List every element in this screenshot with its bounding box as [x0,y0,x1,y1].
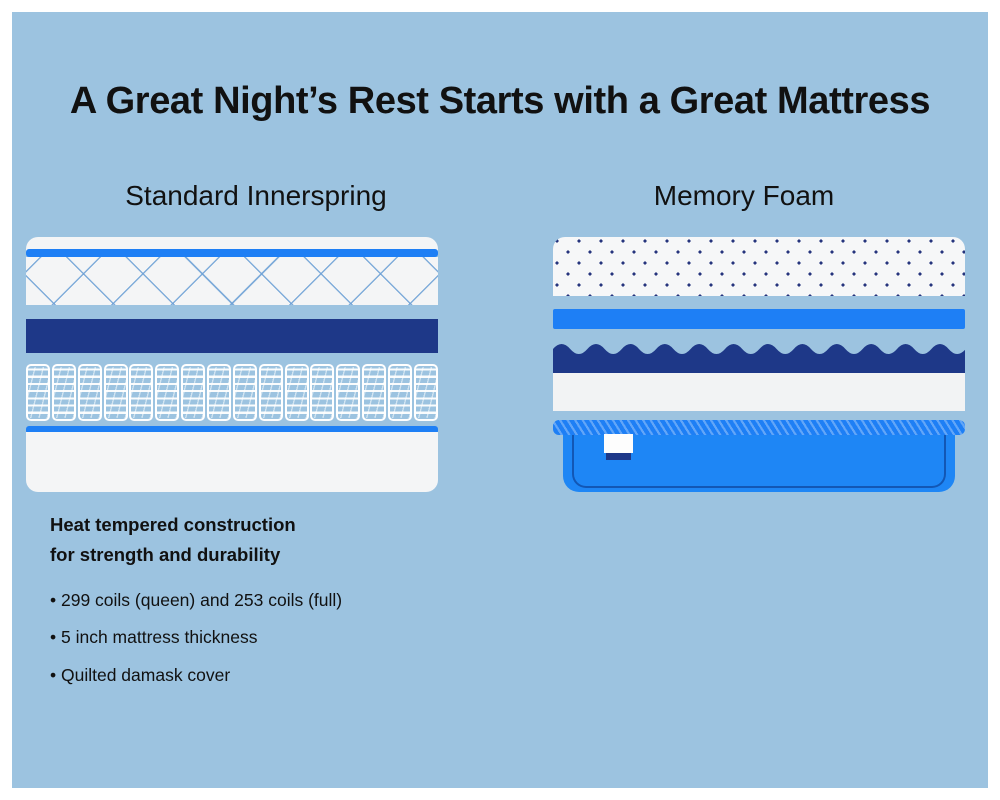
layer-accent-stripe [553,309,965,329]
coil-spring [26,364,50,421]
column-heading-standard-innerspring: Standard Innerspring [12,180,500,212]
subhead-line-2: for strength and durability [50,544,280,565]
layer-support-band [26,319,438,353]
layer-quilted-damask [26,257,438,305]
coil-spring [259,364,283,421]
layer-foundation-base [26,432,438,492]
tag-white-face [604,434,633,453]
foundation-top-rail [553,420,965,435]
layer-coil-springs [26,364,438,421]
subhead-standard-innerspring: Heat tempered construction for strength … [50,510,490,570]
column-heading-memory-foam: Memory Foam [500,180,988,212]
coil-spring [362,364,386,421]
coil-spring [233,364,257,421]
layer-wavy-memory-foam [553,339,965,373]
layer-support-foam [553,373,965,411]
coil-spring [207,364,231,421]
copy-block-standard-innerspring: Heat tempered construction for strength … [50,510,490,684]
coil-spring [52,364,76,421]
wave-shape [553,339,965,373]
foundation-label-tag [604,434,633,460]
coil-spring [414,364,438,421]
column-standard-innerspring: Standard Innerspring [12,12,500,788]
infographic-page: A Great Night’s Rest Starts with a Great… [0,0,1000,800]
coil-spring [181,364,205,421]
column-memory-foam: Memory Foam [500,12,988,788]
layer-dotted-top-cover [553,237,965,296]
list-item: • 299 coils (queen) and 253 coils (full) [50,592,490,610]
coil-spring [104,364,128,421]
memory-foam-mattress-diagram [553,237,965,492]
layer-accent-stripe-top [26,249,438,257]
coil-spring [155,364,179,421]
infographic-canvas: A Great Night’s Rest Starts with a Great… [12,12,988,788]
innerspring-mattress-diagram [26,237,438,492]
coil-spring [336,364,360,421]
coil-spring [285,364,309,421]
coil-spring [388,364,412,421]
layer-foundation-box [553,420,965,492]
coil-spring [78,364,102,421]
subhead-line-1: Heat tempered construction [50,514,296,535]
coil-spring [310,364,334,421]
tag-navy-band [606,453,631,460]
list-item: • 5 inch mattress thickness [50,629,490,647]
list-item: • Quilted damask cover [50,667,490,685]
bullet-list-standard-innerspring: • 299 coils (queen) and 253 coils (full)… [50,592,490,685]
coil-spring [129,364,153,421]
